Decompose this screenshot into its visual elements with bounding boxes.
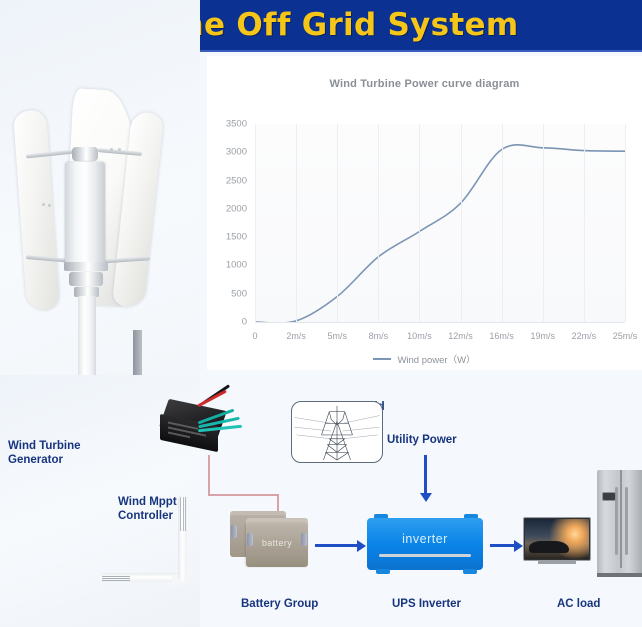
blade-rivet xyxy=(118,148,121,151)
label-battery-group: Battery Group xyxy=(241,597,318,611)
label-ac-load: AC load xyxy=(557,597,600,611)
chart-legend: Wind power（W） xyxy=(207,352,642,366)
transmission-tower-icon xyxy=(292,402,382,462)
y-axis-tick-label: 1000 xyxy=(226,260,255,271)
chart-gridline xyxy=(296,124,297,322)
x-axis-line xyxy=(255,322,625,323)
fridge-base xyxy=(597,573,642,577)
inverter-stripe xyxy=(379,554,471,557)
blade-rivet xyxy=(42,203,45,206)
cable-stripe xyxy=(102,580,130,581)
chart-gridline xyxy=(461,124,462,322)
dc-wire-segment xyxy=(208,494,278,496)
arrow-battery-to-inverter xyxy=(315,544,357,547)
chart-gridline xyxy=(419,124,420,322)
x-axis-tick-label: 16m/s xyxy=(489,322,514,341)
chart-gridline xyxy=(543,124,544,322)
turbine-collar xyxy=(64,262,108,271)
chart-gridline xyxy=(502,124,503,322)
chart-title: Wind Turbine Power curve diagram xyxy=(207,78,642,90)
fridge-door-seam xyxy=(620,470,622,568)
x-axis-tick-label: 19m/s xyxy=(531,322,556,341)
cable-stripe xyxy=(102,578,130,579)
dc-wire-segment xyxy=(208,455,210,495)
x-axis-tick-label: 0 xyxy=(252,322,257,341)
cable-stripe xyxy=(183,497,184,531)
wind-power-curve xyxy=(255,124,625,322)
battery-unit-label: battery xyxy=(246,538,308,548)
arrow-utility-to-inverter xyxy=(424,455,427,493)
x-axis-tick-label: 10m/s xyxy=(407,322,432,341)
turbine-generator-hub xyxy=(65,162,105,267)
chart-gridline xyxy=(584,124,585,322)
chart-plot-area: 050010001500200025003000350002m/s5m/s8m/… xyxy=(255,124,625,322)
chart-gridline xyxy=(255,124,256,322)
inverter-foot xyxy=(376,569,390,574)
turbine-blade-left xyxy=(13,110,60,310)
cable-stripe xyxy=(102,576,130,577)
chart-gridline xyxy=(625,124,626,322)
x-axis-tick-label: 8m/s xyxy=(369,322,389,341)
label-wind-mppt-controller: Wind Mppt Controller xyxy=(118,495,177,524)
inverter-foot xyxy=(463,569,477,574)
chart-gridline xyxy=(378,124,379,322)
turbine-collar xyxy=(72,147,98,161)
turbine-cable-vertical xyxy=(178,495,187,581)
turbine-collar xyxy=(69,272,103,286)
x-axis-tick-label: 12m/s xyxy=(448,322,473,341)
x-axis-tick-label: 2m/s xyxy=(286,322,306,341)
y-axis-tick-label: 500 xyxy=(231,288,255,299)
legend-label: Wind power（W） xyxy=(397,352,475,366)
label-ups-inverter: UPS Inverter xyxy=(392,597,461,611)
inverter-body-label: inverter xyxy=(367,532,483,546)
battery-terminal xyxy=(231,525,237,538)
y-axis-tick-label: 2000 xyxy=(226,203,255,214)
controller-silkscreen xyxy=(168,432,190,438)
system-diagram: Wind Turbine Generator Wind Mppt Control… xyxy=(0,375,642,627)
arrow-inverter-to-load xyxy=(490,544,514,547)
blade-rivet xyxy=(48,204,51,207)
y-axis-tick-label: 3000 xyxy=(226,147,255,158)
y-axis-tick-label: 1500 xyxy=(226,232,255,243)
x-axis-tick-label: 5m/s xyxy=(327,322,347,341)
power-curve-chart: Wind Turbine Power curve diagram 0500100… xyxy=(207,56,642,370)
x-axis-tick-label: 25m/s xyxy=(613,322,638,341)
label-utility-power: Utility Power xyxy=(387,433,457,447)
cable-stripe xyxy=(180,497,181,531)
television-appliance xyxy=(523,517,591,561)
fridge-water-dispenser xyxy=(602,492,616,501)
x-axis-tick-label: 22m/s xyxy=(572,322,597,341)
chart-gridline xyxy=(337,124,338,322)
cable-stripe xyxy=(185,497,186,531)
tv-stand xyxy=(538,561,576,564)
legend-swatch xyxy=(373,358,391,360)
label-wind-turbine-generator: Wind Turbine Generator xyxy=(8,439,81,468)
ups-inverter-device: inverter xyxy=(367,518,483,570)
blade-rivet xyxy=(110,148,113,151)
y-axis-tick-label: 3500 xyxy=(226,119,255,130)
fridge-handle xyxy=(625,487,628,555)
y-axis-tick-label: 2500 xyxy=(226,175,255,186)
tv-screen-image xyxy=(525,519,589,559)
blade-rivet xyxy=(145,258,148,261)
grid-tower-illustration xyxy=(291,401,383,463)
tv-screen-car xyxy=(529,541,569,553)
